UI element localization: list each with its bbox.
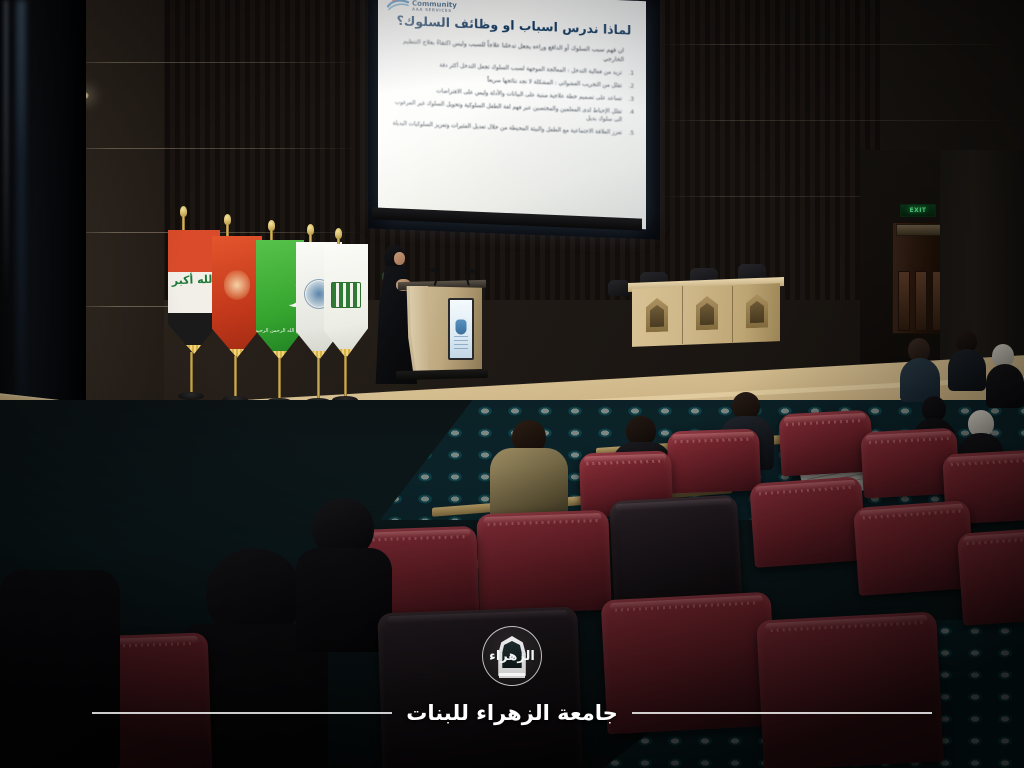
flag-base [178, 392, 204, 400]
lectern-base [396, 369, 488, 380]
lectern-display [448, 298, 474, 360]
door-panel [915, 271, 927, 331]
slide-bullet-list: تزيد من فعالية التدخل : المعالجة الموجهة… [388, 59, 636, 138]
flag-cloth [212, 236, 262, 358]
flag-emblem-icon [331, 282, 361, 308]
wall-seam [660, 44, 1020, 45]
flag-stand-rod [234, 356, 237, 400]
person-torso [0, 570, 120, 768]
person-torso [948, 349, 986, 391]
auditorium-seat [957, 526, 1024, 625]
flag-white-green-emblem [324, 228, 376, 402]
wall-seam [60, 62, 360, 63]
exit-sign-label: EXIT [909, 207, 926, 214]
microphone-head-icon [468, 269, 475, 273]
flag-stand-rod [344, 356, 347, 400]
auditorium-seat [476, 510, 611, 615]
auditorium-seat [853, 500, 975, 596]
display-text-lines [454, 336, 468, 352]
auditorium-seat [778, 410, 873, 477]
flag-stand-rod [278, 358, 281, 402]
flag-inscription: الله أكبر [172, 272, 217, 287]
column-light-reflection [4, 0, 8, 300]
auditorium-seat [756, 611, 944, 768]
flag-seal-emblem [224, 270, 250, 300]
institution-emblem-icon [456, 319, 467, 334]
flag-stand-rod [317, 358, 320, 402]
auditorium-photo: EXIT KDcare Community AAA SERVICES لماذا… [0, 0, 1024, 768]
auditorium-seat [601, 592, 778, 735]
auditorium-seat [377, 607, 582, 768]
logo-line-3: AAA SERVICES [412, 7, 457, 13]
slide-body: ان فهم سبب السلوك أو الدافع وراءه يجعل ت… [388, 36, 636, 142]
door-transom-window [896, 224, 944, 236]
seat-top-rim [615, 498, 730, 511]
flag-cloth [324, 244, 368, 358]
audience-person-foreground [0, 570, 120, 768]
head-table-seam [732, 286, 733, 344]
head-table [632, 284, 780, 346]
slide-title: لماذا ندرس اسباب او وظائف السلوك؟ [394, 13, 634, 38]
person-torso [986, 364, 1024, 408]
exit-sign: EXIT [900, 204, 936, 217]
lectern-front-curve [402, 286, 428, 372]
microphone-head-icon [430, 268, 437, 272]
wall-seam [58, 148, 358, 149]
audience-person [900, 338, 940, 400]
presenter-face [394, 252, 405, 265]
wall-seam [660, 120, 1020, 121]
audience-person [948, 330, 986, 390]
auditorium-seat [667, 428, 761, 493]
flag-fringe [212, 349, 262, 358]
head-table-seam [682, 286, 683, 344]
stage-chair [608, 280, 630, 296]
wall-strip-left [78, 0, 164, 430]
lectern [400, 286, 482, 380]
door-panel [898, 271, 910, 331]
flag-stand-rod [190, 352, 193, 396]
projection-screen: KDcare Community AAA SERVICES لماذا ندرس… [378, 0, 646, 229]
auditorium-seat [749, 476, 867, 568]
seat-top-rim [387, 610, 567, 623]
audience-person [986, 344, 1024, 408]
